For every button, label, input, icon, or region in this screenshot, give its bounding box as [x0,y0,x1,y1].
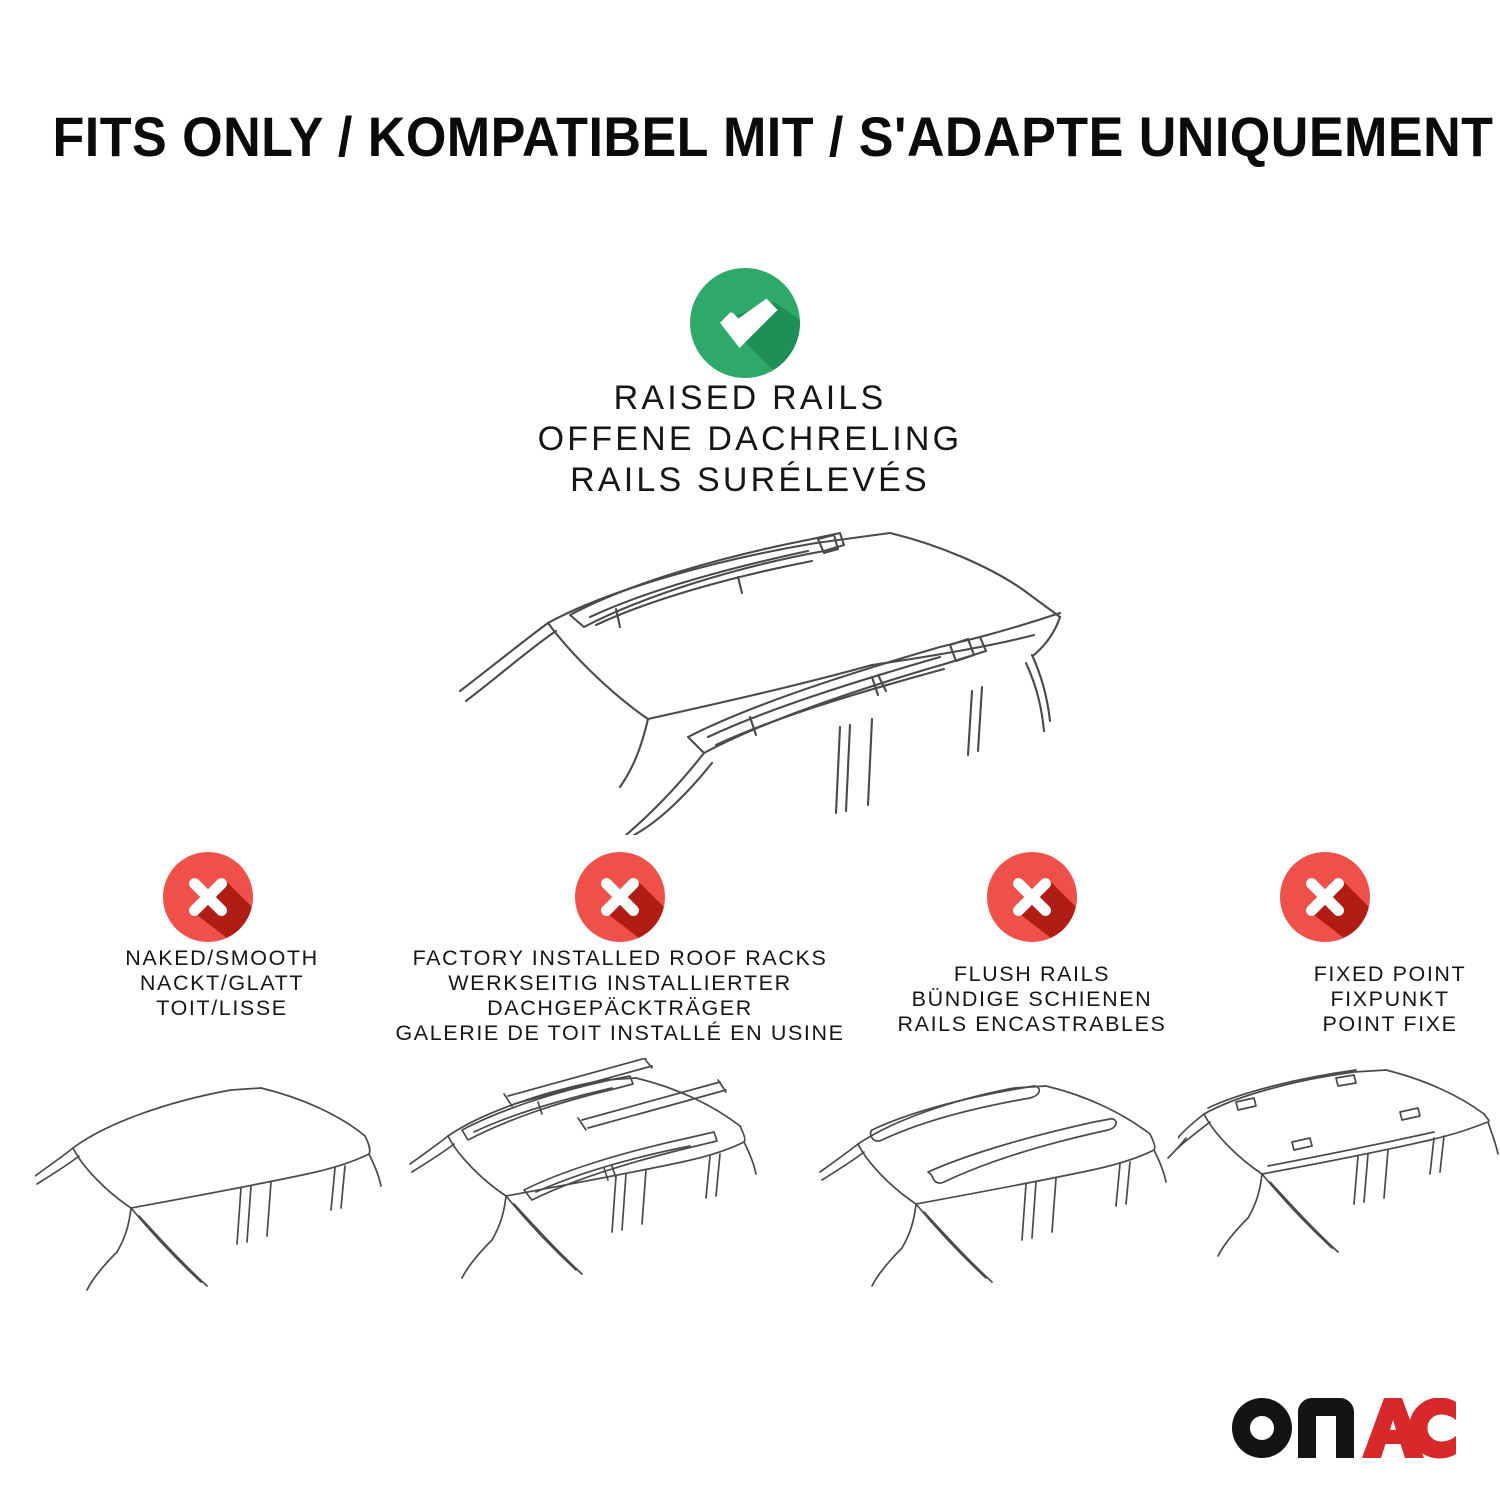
label-line-fr: RAILS ENCASTRABLES [872,1012,1192,1037]
omac-logo [1232,1398,1456,1460]
car-roof-factory-roof-rack-illustration [408,1058,782,1298]
incompatible-heading-fixed-point: FIXED POINT FIXPUNKT POINT FIXE [1240,962,1500,1037]
label-line-fr: POINT FIXE [1240,1012,1500,1037]
label-line-fr: GALERIE DE TOIT INSTALLÉ EN USINE [390,1021,850,1046]
incompatible-heading-flush-rails: FLUSH RAILS BÜNDIGE SCHIENEN RAILS ENCAS… [872,962,1192,1037]
compatible-line-de: OFFENE DACHRELING [0,419,1500,460]
label-line-en: FIXED POINT [1240,962,1500,987]
cross-icon [163,852,253,942]
car-roof-naked-smooth-illustration [35,1062,405,1297]
check-icon [690,268,800,378]
compatible-line-fr: RAILS SURÉLEVÉS [0,460,1500,501]
label-line-en: FACTORY INSTALLED ROOF RACKS [390,946,850,971]
label-line-en: NAKED/SMOOTH [62,946,382,971]
infographic-canvas: FITS ONLY / KOMPATIBEL MIT / S'ADAPTE UN… [0,0,1500,1500]
incompatible-heading-factory-roof-racks: FACTORY INSTALLED ROOF RACKS WERKSEITIG … [390,946,850,1046]
label-line-de-2: DACHGEPÄCKTRÄGER [390,996,850,1021]
car-roof-fixed-point-illustration [1178,1062,1500,1297]
label-line-de-1: WERKSEITIG INSTALLIERTER [390,971,850,996]
cross-icon [575,852,665,942]
label-line-de: BÜNDIGE SCHIENEN [872,987,1192,1012]
car-roof-flush-rails-illustration [818,1062,1192,1297]
cross-icon [987,852,1077,942]
page-title: FITS ONLY / KOMPATIBEL MIT / S'ADAPTE UN… [53,104,1448,169]
compatible-heading: RAISED RAILS OFFENE DACHRELING RAILS SUR… [0,378,1500,501]
label-line-de: FIXPUNKT [1240,987,1500,1012]
cross-icon [1280,852,1370,942]
compatible-line-en: RAISED RAILS [0,378,1500,419]
label-line-de: NACKT/GLATT [62,971,382,996]
label-line-fr: TOIT/LISSE [62,996,382,1021]
car-roof-with-raised-rails-illustration [420,505,1100,835]
incompatible-heading-naked-smooth: NAKED/SMOOTH NACKT/GLATT TOIT/LISSE [62,946,382,1021]
label-line-en: FLUSH RAILS [872,962,1192,987]
